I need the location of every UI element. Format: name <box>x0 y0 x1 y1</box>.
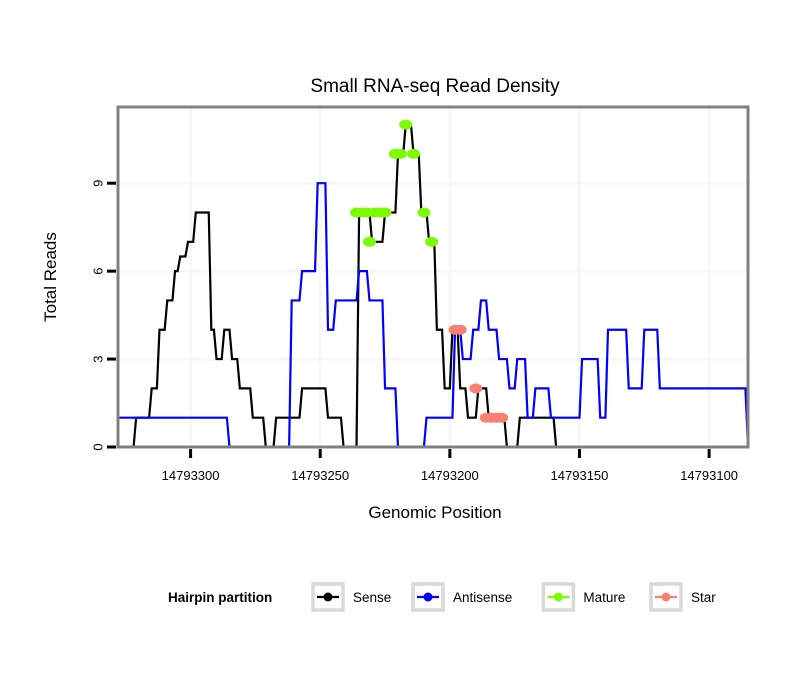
legend-key-dot-icon <box>662 593 671 602</box>
y-tick-label: 3 <box>91 355 106 362</box>
chart-title: Small RNA-seq Read Density <box>310 76 560 97</box>
marker-mature <box>425 237 438 247</box>
legend-item-label: Mature <box>583 590 625 605</box>
y-tick-label: 6 <box>91 268 106 275</box>
legend-key-dot-icon <box>324 593 333 602</box>
marker-mature <box>363 237 376 247</box>
legend-item-label: Antisense <box>453 590 512 605</box>
plot-panel <box>118 107 748 447</box>
marker-mature <box>407 149 420 159</box>
x-tick-label: 14793300 <box>162 468 220 483</box>
marker-mature <box>417 208 430 218</box>
y-tick-label: 0 <box>91 443 106 450</box>
legend-item-label: Sense <box>353 590 391 605</box>
marker-star <box>495 413 508 423</box>
x-tick-label: 14793200 <box>421 468 479 483</box>
x-axis-title: Genomic Position <box>368 503 501 522</box>
panel-background <box>118 107 748 447</box>
marker-mature <box>379 208 392 218</box>
read-density-chart: Small RNA-seq Read Density 1479330014793… <box>0 0 810 690</box>
marker-mature <box>394 149 407 159</box>
legend-title: Hairpin partition <box>168 590 272 605</box>
marker-star <box>454 325 467 335</box>
legend-key-dot-icon <box>554 593 563 602</box>
x-tick-label: 14793100 <box>680 468 738 483</box>
y-tick-label: 9 <box>91 180 106 187</box>
marker-star <box>469 383 482 393</box>
y-axis-title: Total Reads <box>41 232 60 322</box>
x-tick-label: 14793150 <box>551 468 609 483</box>
legend-key-dot-icon <box>424 593 433 602</box>
legend-item-label: Star <box>691 590 716 605</box>
chart-page: Small RNA-seq Read Density 1479330014793… <box>0 0 810 690</box>
marker-mature <box>399 120 412 130</box>
x-tick-label: 14793250 <box>291 468 349 483</box>
